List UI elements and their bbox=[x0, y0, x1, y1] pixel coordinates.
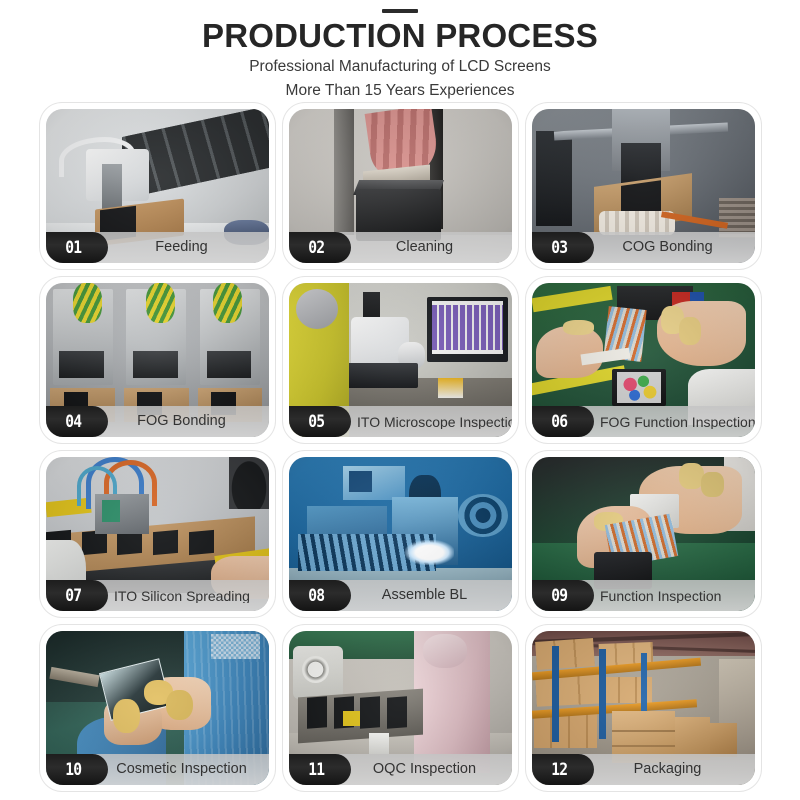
card-label-strip: 12 Packaging bbox=[532, 754, 755, 785]
decorative-dash-icon bbox=[382, 9, 418, 13]
card-inner: 03 COG Bonding bbox=[532, 109, 755, 263]
card-label-strip: 05 ITO Microscope Inspection bbox=[289, 406, 512, 437]
step-number-badge: 04 bbox=[46, 406, 108, 437]
step-number: 09 bbox=[551, 586, 567, 606]
step-label: ITO Microscope Inspection bbox=[351, 415, 512, 429]
process-step-card[interactable]: 04 FOG Bonding bbox=[40, 277, 275, 443]
card-label-strip: 02 Cleaning bbox=[289, 232, 512, 263]
step-number-badge: 06 bbox=[532, 406, 594, 437]
card-label-strip: 03 COG Bonding bbox=[532, 232, 755, 263]
card-inner: 10 Cosmetic Inspection bbox=[46, 631, 269, 785]
card-label-strip: 10 Cosmetic Inspection bbox=[46, 754, 269, 785]
card-inner: 02 Cleaning bbox=[289, 109, 512, 263]
step-number: 12 bbox=[551, 760, 567, 780]
step-label: Function Inspection bbox=[594, 589, 755, 603]
step-number-badge: 12 bbox=[532, 754, 594, 785]
step-number: 04 bbox=[65, 412, 81, 432]
page-header: PRODUCTION PROCESS Professional Manufact… bbox=[0, 0, 800, 102]
process-step-card[interactable]: 05 ITO Microscope Inspection bbox=[283, 277, 518, 443]
page-title: PRODUCTION PROCESS bbox=[0, 18, 800, 54]
card-label-strip: 09 Function Inspection bbox=[532, 580, 755, 611]
card-label-strip: 06 FOG Function Inspection bbox=[532, 406, 755, 437]
card-inner: 12 Packaging bbox=[532, 631, 755, 785]
card-inner: 01 Feeding bbox=[46, 109, 269, 263]
process-step-card[interactable]: 06 FOG Function Inspection bbox=[526, 277, 761, 443]
process-step-card[interactable]: 01 Feeding bbox=[40, 103, 275, 269]
card-label-strip: 11 OQC Inspection bbox=[289, 754, 512, 785]
step-number-badge: 02 bbox=[289, 232, 351, 263]
step-number-badge: 05 bbox=[289, 406, 351, 437]
card-label-strip: 01 Feeding bbox=[46, 232, 269, 263]
step-number: 07 bbox=[65, 586, 81, 606]
step-number: 08 bbox=[308, 586, 324, 606]
step-label: Cleaning bbox=[351, 240, 512, 255]
process-step-card[interactable]: 02 Cleaning bbox=[283, 103, 518, 269]
step-number-badge: 03 bbox=[532, 232, 594, 263]
step-label: Cosmetic Inspection bbox=[108, 762, 269, 777]
step-label: Feeding bbox=[108, 240, 269, 255]
process-step-card[interactable]: 10 Cosmetic Inspection bbox=[40, 625, 275, 791]
step-label: OQC Inspection bbox=[351, 762, 512, 777]
step-number-badge: 01 bbox=[46, 232, 108, 263]
production-process-page: PRODUCTION PROCESS Professional Manufact… bbox=[0, 0, 800, 800]
process-step-card[interactable]: 08 Assemble BL bbox=[283, 451, 518, 617]
card-label-strip: 07 ITO Silicon Spreading bbox=[46, 580, 269, 611]
step-number-badge: 11 bbox=[289, 754, 351, 785]
card-inner: 05 ITO Microscope Inspection bbox=[289, 283, 512, 437]
process-step-card[interactable]: 07 ITO Silicon Spreading bbox=[40, 451, 275, 617]
step-number: 11 bbox=[308, 760, 324, 780]
step-number: 06 bbox=[551, 412, 567, 432]
step-label: Assemble BL bbox=[351, 588, 512, 603]
step-label: FOG Bonding bbox=[108, 414, 269, 429]
card-inner: 09 Function Inspection bbox=[532, 457, 755, 611]
process-step-card[interactable]: 11 OQC Inspection bbox=[283, 625, 518, 791]
step-number: 05 bbox=[308, 412, 324, 432]
step-number-badge: 09 bbox=[532, 580, 594, 611]
card-inner: 08 Assemble BL bbox=[289, 457, 512, 611]
step-label: COG Bonding bbox=[594, 240, 755, 255]
step-number-badge: 10 bbox=[46, 754, 108, 785]
card-label-strip: 04 FOG Bonding bbox=[46, 406, 269, 437]
card-label-strip: 08 Assemble BL bbox=[289, 580, 512, 611]
card-inner: 11 OQC Inspection bbox=[289, 631, 512, 785]
step-label: ITO Silicon Spreading bbox=[108, 589, 269, 603]
card-inner: 04 FOG Bonding bbox=[46, 283, 269, 437]
step-number: 01 bbox=[65, 238, 81, 258]
page-subtitle-line-2: More Than 15 Years Experiences bbox=[0, 80, 800, 102]
card-inner: 06 FOG Function Inspection bbox=[532, 283, 755, 437]
process-step-card[interactable]: 09 Function Inspection bbox=[526, 451, 761, 617]
step-number: 03 bbox=[551, 238, 567, 258]
step-number: 10 bbox=[65, 760, 81, 780]
step-label: Packaging bbox=[594, 762, 755, 777]
process-step-card[interactable]: 03 COG Bonding bbox=[526, 103, 761, 269]
step-number-badge: 08 bbox=[289, 580, 351, 611]
step-label: FOG Function Inspection bbox=[594, 415, 755, 429]
step-number: 02 bbox=[308, 238, 324, 258]
card-inner: 07 ITO Silicon Spreading bbox=[46, 457, 269, 611]
process-step-grid: 01 Feeding 02 Cleaning bbox=[40, 103, 760, 791]
step-number-badge: 07 bbox=[46, 580, 108, 611]
page-subtitle-line-1: Professional Manufacturing of LCD Screen… bbox=[0, 56, 800, 78]
process-step-card[interactable]: 12 Packaging bbox=[526, 625, 761, 791]
